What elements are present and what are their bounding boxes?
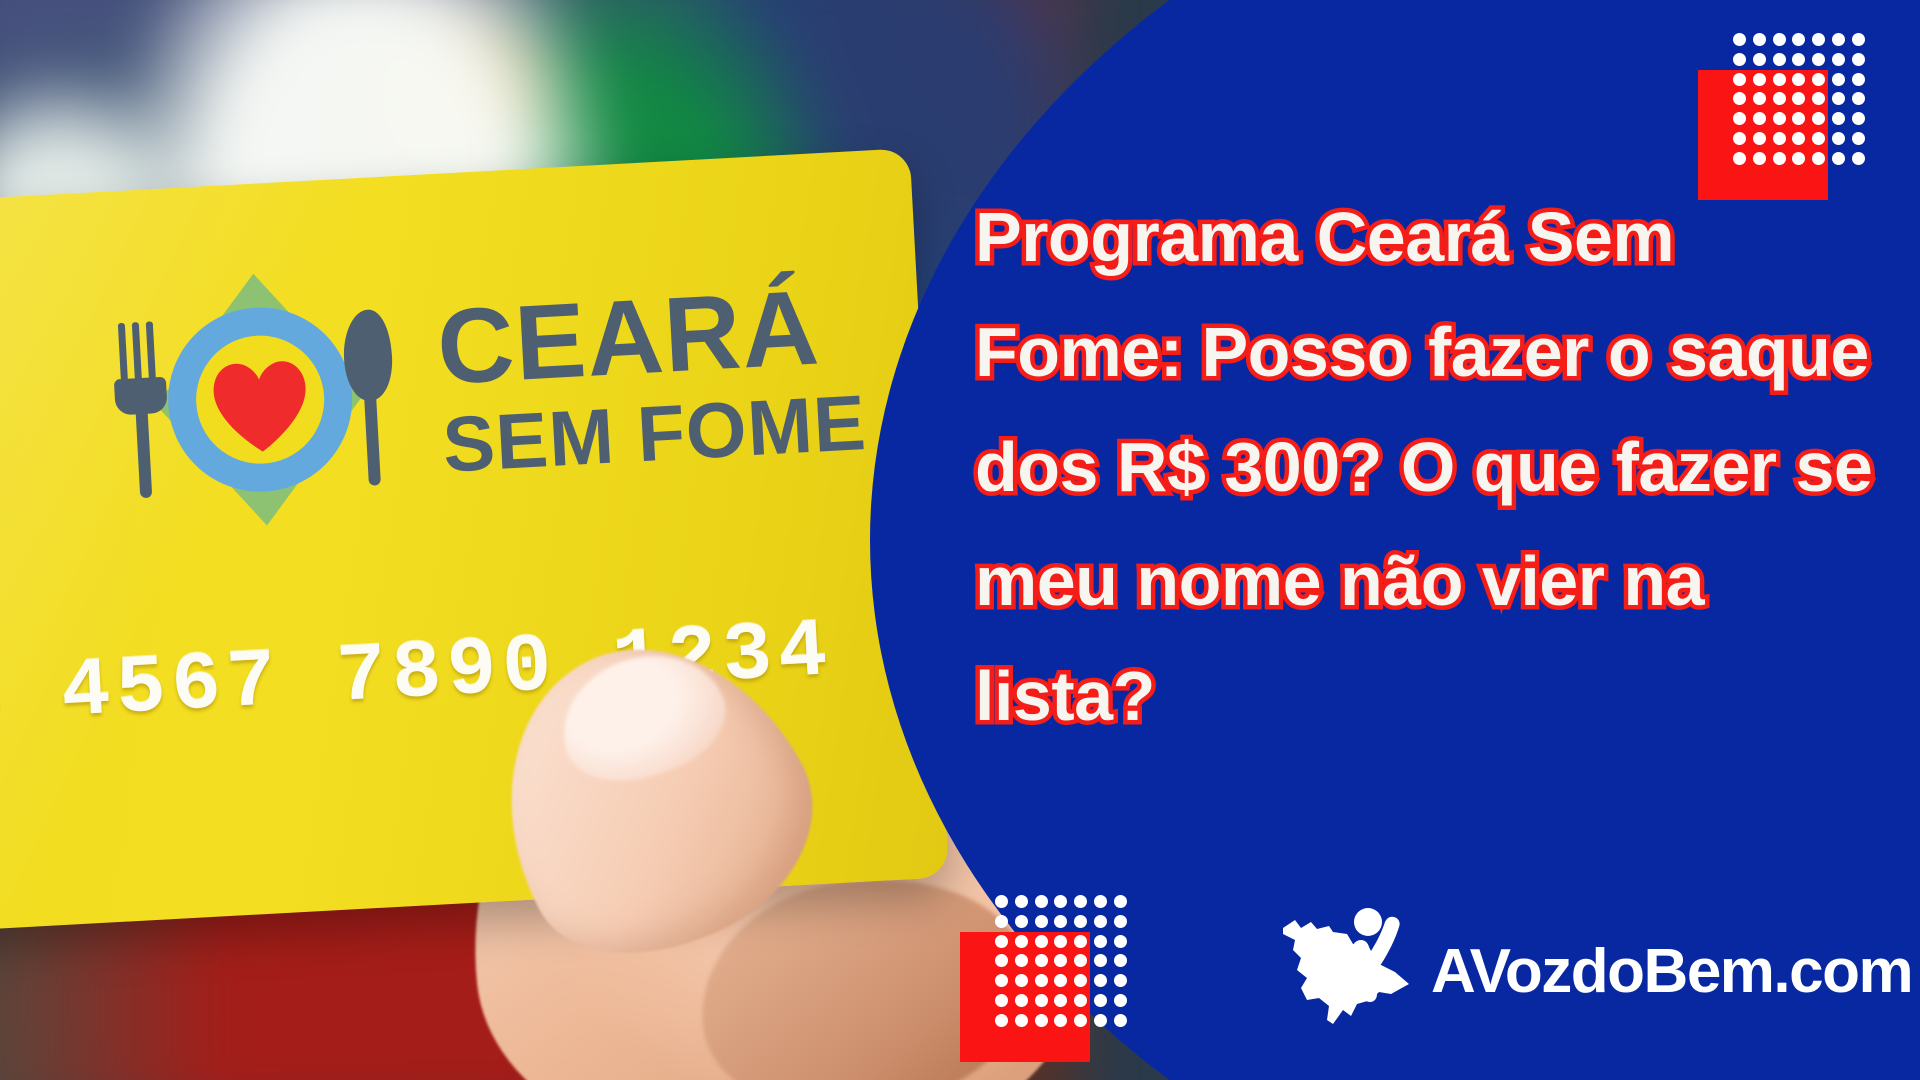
promo-banner: CEARÁ SEM FOME 34 4567 7890 1234 Program…: [0, 0, 1920, 1080]
brazil-map-person-icon: [1275, 900, 1425, 1042]
card-logo-icon: [103, 256, 417, 544]
dot-matrix-bottom: [992, 892, 1130, 1030]
headline: Programa Ceará Sem Fome: Posso fazer o s…: [975, 180, 1875, 754]
card-brand-text: CEARÁ SEM FOME: [435, 274, 868, 483]
dot-grid-top-right: [1698, 30, 1868, 200]
site-logo-wordmark: AVozdoBem.com: [1431, 936, 1912, 1007]
dot-grid-bottom-left: [960, 892, 1130, 1062]
card-brand-lockup: CEARÁ SEM FOME: [103, 231, 871, 543]
site-logo[interactable]: AVozdoBem.com: [1275, 900, 1912, 1042]
dot-matrix-top: [1730, 30, 1868, 168]
card-brand-line2: SEM FOME: [441, 384, 869, 483]
